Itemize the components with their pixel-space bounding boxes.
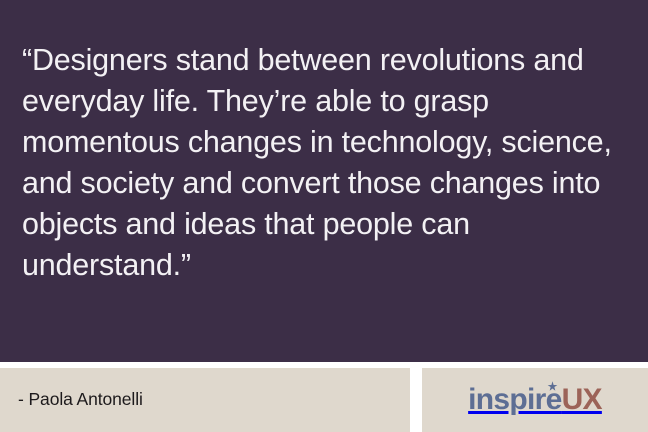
brand-word-ux: UX (562, 383, 602, 416)
inspireux-logo[interactable]: inspireUX (422, 368, 648, 432)
quote-card: “Designers stand between revolutions and… (0, 0, 648, 432)
attribution-text: - Paola Antonelli (18, 387, 143, 411)
attribution-panel: - Paola Antonelli (0, 368, 410, 432)
quote-panel: “Designers stand between revolutions and… (0, 0, 648, 362)
brand-word-inspire: inspire (468, 383, 561, 416)
brand-panel: inspireUX (422, 368, 648, 432)
footer: - Paola Antonelli inspireUX (0, 368, 648, 432)
brand-wordmark: inspireUX (468, 385, 602, 415)
quote-text: “Designers stand between revolutions and… (22, 40, 622, 286)
